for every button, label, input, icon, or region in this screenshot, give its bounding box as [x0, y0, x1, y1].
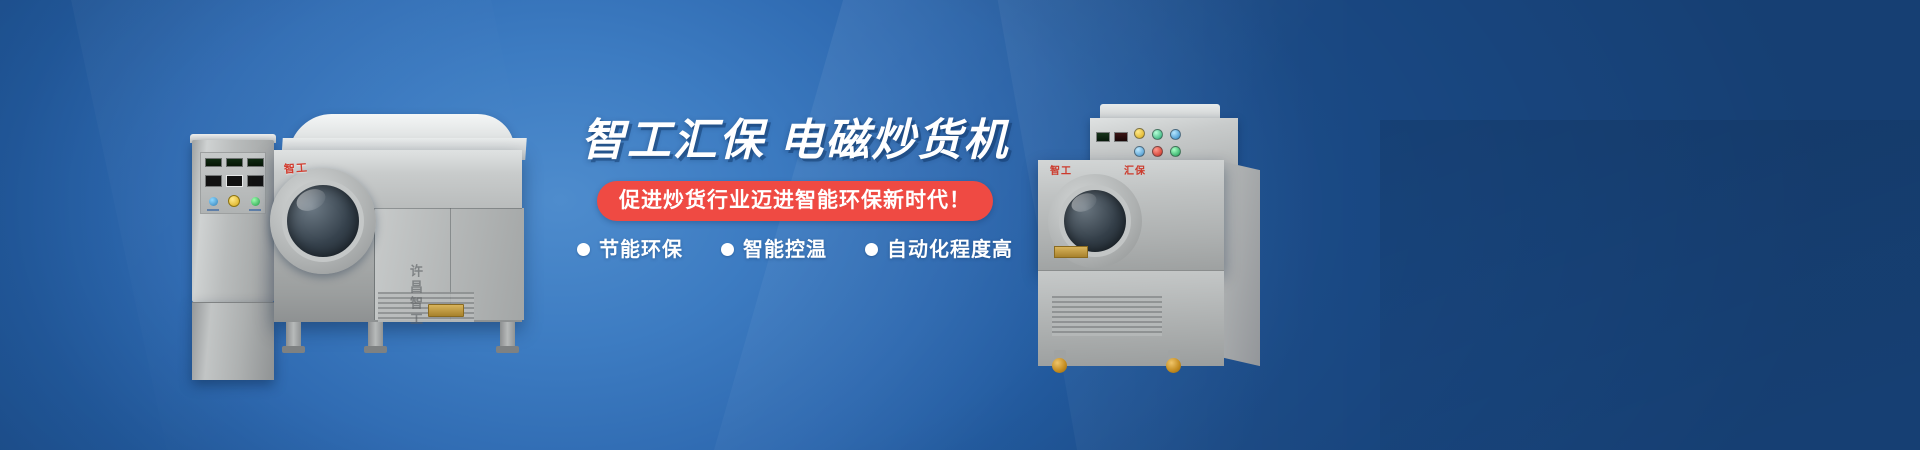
emergency-stop-knob: [228, 195, 240, 207]
product-banner: 智工 许昌智工 智工汇保 电磁炒货机 促进炒货行业迈进智能环保新时代！ 节能环保…: [0, 0, 1920, 450]
feature-label-1: 节能环保: [599, 240, 683, 260]
banner-text-block: 智工汇保 电磁炒货机 促进炒货行业迈进智能环保新时代！ 节能环保 智能控温 自动…: [560, 118, 1030, 260]
small-lamp-red: [1152, 146, 1163, 157]
bullet-dot-icon: [577, 243, 590, 256]
slogan-pill: 促进炒货行业迈进智能环保新时代！: [597, 181, 993, 221]
small-ventilation-grille: [1052, 296, 1162, 336]
machine-side-text: 许昌智工: [406, 264, 425, 328]
bullet-dot-icon: [865, 243, 878, 256]
small-lamp-green-1: [1152, 129, 1163, 140]
small-brand-mark-1: 智工: [1050, 162, 1072, 177]
display-readout-1: [205, 158, 222, 167]
slogan-text: 促进炒货行业迈进智能环保新时代！: [619, 190, 971, 211]
small-lamp-cyan: [1134, 146, 1145, 157]
product-image-small-roaster: 智工 汇保: [1028, 100, 1278, 350]
panel-label-right: [249, 209, 261, 211]
small-brand-mark-2: 汇保: [1124, 162, 1146, 177]
small-lamp-yellow: [1134, 128, 1145, 139]
digital-meter-2: [226, 175, 243, 187]
brand-plate: [428, 304, 464, 317]
machine-foot-1: [282, 346, 305, 353]
digital-meter-3: [247, 175, 264, 187]
small-brand-plate: [1054, 246, 1088, 258]
caster-wheel-1: [1052, 358, 1067, 373]
product-image-large-roaster: 智工 许昌智工: [178, 96, 568, 351]
feature-list: 节能环保 智能控温 自动化程度高: [560, 240, 1030, 260]
indicator-lamp-green: [251, 197, 260, 206]
feature-item-2: 智能控温: [721, 240, 827, 260]
feature-label-3: 自动化程度高: [887, 240, 1013, 260]
machine-foot-3: [496, 346, 519, 353]
small-lamp-blue: [1170, 129, 1181, 140]
control-cabinet-lower: [192, 302, 274, 380]
small-display-2: [1114, 132, 1128, 142]
small-roaster-side: [1224, 162, 1260, 366]
feature-item-1: 节能环保: [577, 240, 683, 260]
display-readout-2: [226, 158, 243, 167]
bullet-dot-icon: [721, 243, 734, 256]
brand-mark-left: 智工: [283, 159, 308, 177]
panel-label-left: [207, 209, 219, 211]
caster-wheel-2: [1166, 358, 1181, 373]
indicator-lamp-blue: [209, 197, 218, 206]
machine-foot-2: [364, 346, 387, 353]
display-readout-3: [247, 158, 264, 167]
background-facet-4: [1380, 120, 1920, 450]
banner-title: 智工汇保 电磁炒货机: [560, 118, 1030, 165]
small-display-1: [1096, 132, 1110, 142]
digital-meter-1: [205, 175, 222, 187]
feature-item-3: 自动化程度高: [865, 240, 1013, 260]
small-lamp-green-2: [1170, 146, 1181, 157]
control-panel: [200, 152, 266, 214]
feature-label-2: 智能控温: [743, 240, 827, 260]
